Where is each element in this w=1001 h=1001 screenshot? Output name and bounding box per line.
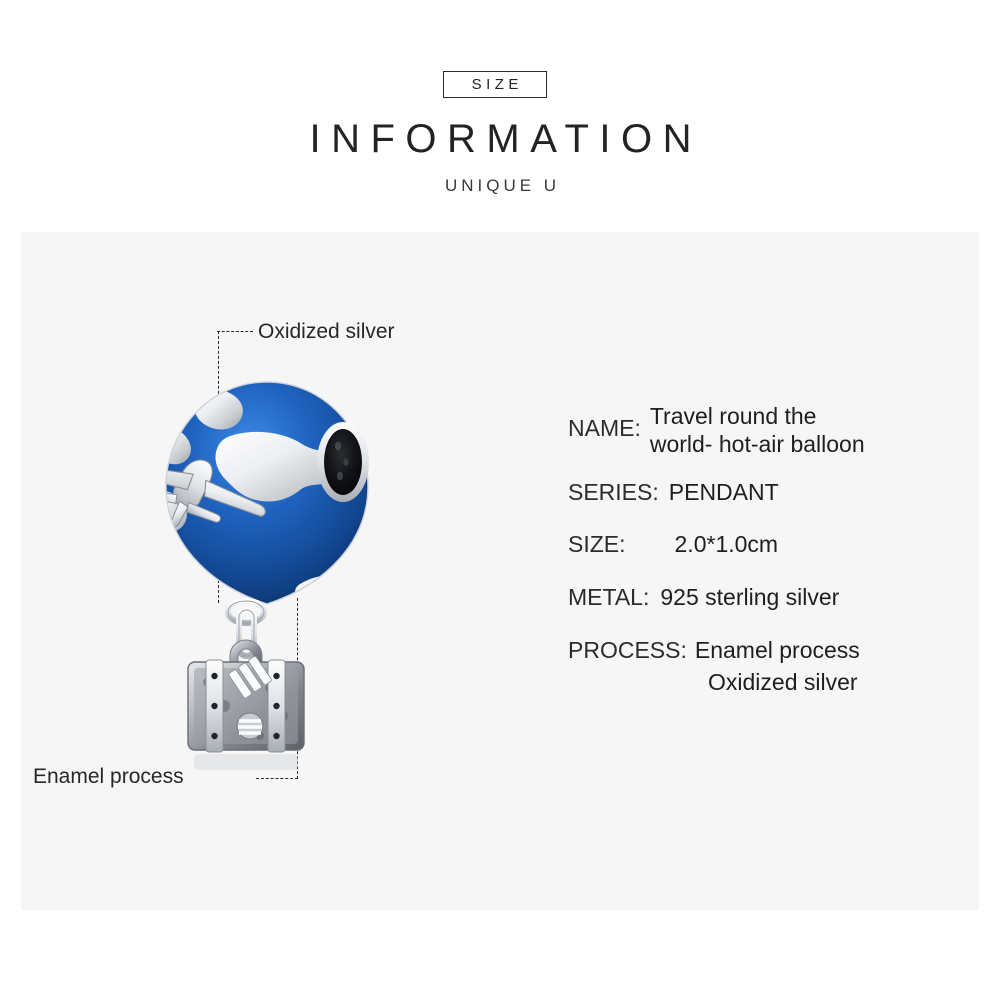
spec-label-process: PROCESS: xyxy=(568,636,687,664)
size-badge: SIZE xyxy=(443,71,547,98)
threading-hole xyxy=(317,422,369,502)
page-subtitle: UNIQUE U xyxy=(0,176,1001,196)
product-image xyxy=(150,370,390,790)
size-badge-label: SIZE xyxy=(467,76,523,93)
spec-row-series: SERIES: PENDANT xyxy=(568,478,988,506)
spec-value-series: PENDANT xyxy=(669,478,779,506)
page-title: INFORMATION xyxy=(0,117,1001,162)
spec-label-metal: METAL: xyxy=(568,583,649,611)
spec-value-metal: 925 sterling silver xyxy=(660,583,839,611)
spec-label-size: SIZE: xyxy=(568,530,626,558)
spec-value-name-line2: world- hot-air balloon xyxy=(650,430,865,458)
suitcase-charm xyxy=(188,640,304,770)
spec-value-size: 2.0*1.0cm xyxy=(675,530,779,558)
spec-row-process-second: Oxidized silver xyxy=(568,668,988,696)
spec-row-name: NAME: Travel round the world- hot-air ba… xyxy=(568,402,988,458)
product-information-page: SIZE INFORMATION UNIQUE U Oxidized silve… xyxy=(0,0,1001,1001)
leader-line-oxidized-silver-horizontal xyxy=(217,331,253,332)
spec-label-name: NAME: xyxy=(568,402,641,442)
page-header: SIZE INFORMATION UNIQUE U xyxy=(0,0,1001,232)
spec-value-name-line1: Travel round the xyxy=(650,402,865,430)
specification-list: NAME: Travel round the world- hot-air ba… xyxy=(568,402,988,696)
spec-row-process: PROCESS: Enamel process xyxy=(568,636,988,664)
spec-label-series: SERIES: xyxy=(568,478,659,506)
spec-value-process: Enamel process xyxy=(695,636,860,664)
annotation-label-oxidized-silver: Oxidized silver xyxy=(258,320,395,344)
spec-value-process-second: Oxidized silver xyxy=(708,668,858,696)
spec-row-metal: METAL: 925 sterling silver xyxy=(568,583,988,611)
spec-row-size: SIZE: 2.0*1.0cm xyxy=(568,530,988,558)
spec-value-name: Travel round the world- hot-air balloon xyxy=(650,402,865,458)
